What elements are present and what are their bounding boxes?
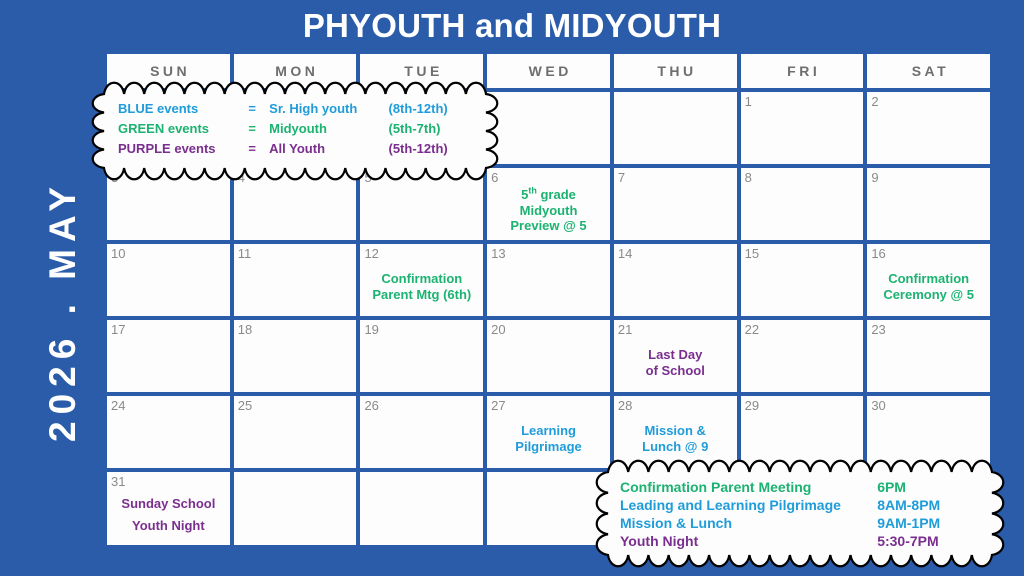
weekday-header-sat: SAT bbox=[865, 52, 992, 90]
legend-event-row: Confirmation Parent Meeting6PM bbox=[620, 479, 986, 497]
calendar-day-cell-24[interactable]: 24 bbox=[105, 394, 232, 470]
day-number: 24 bbox=[111, 399, 226, 413]
page-title: PHYOUTH and MIDYOUTH bbox=[0, 4, 1024, 48]
day-number: 10 bbox=[111, 247, 226, 261]
legend-event-time: 6PM bbox=[877, 479, 986, 495]
event-text[interactable]: LearningPilgrimage bbox=[491, 413, 606, 466]
event-line: Youth Night bbox=[132, 515, 205, 537]
calendar-day-cell-20[interactable]: 20 bbox=[485, 318, 612, 394]
calendar-day-cell-30[interactable]: 30 bbox=[865, 394, 992, 470]
legend-event-name: Confirmation Parent Meeting bbox=[620, 479, 877, 495]
calendar-day-cell-empty[interactable] bbox=[232, 470, 359, 547]
day-number: 15 bbox=[745, 247, 860, 261]
day-number: 17 bbox=[111, 323, 226, 337]
calendar-day-cell-15[interactable]: 15 bbox=[739, 242, 866, 318]
calendar-day-cell-empty[interactable] bbox=[485, 470, 612, 547]
legend-label: PURPLE events bbox=[118, 141, 243, 156]
legend-event-row: Leading and Learning Pilgrimage8AM-8PM bbox=[620, 497, 986, 515]
legend-grades: (5th-7th) bbox=[389, 121, 478, 136]
legend-key-row: BLUE events=Sr. High youth(8th-12th) bbox=[118, 101, 478, 121]
day-number bbox=[491, 475, 606, 489]
day-number: 12 bbox=[364, 247, 479, 261]
day-number: 18 bbox=[238, 323, 353, 337]
legend-event-times: Confirmation Parent Meeting6PMLeading an… bbox=[608, 472, 992, 555]
legend-key-row: GREEN events=Midyouth(5th-7th) bbox=[118, 121, 478, 141]
weekday-label: FRI bbox=[784, 63, 821, 79]
legend-grades: (5th-12th) bbox=[389, 141, 478, 156]
day-number: 21 bbox=[618, 323, 733, 337]
legend-group: Midyouth bbox=[261, 121, 388, 136]
weekday-header-mon: MON bbox=[232, 52, 359, 90]
weekday-header-sun: SUN bbox=[105, 52, 232, 90]
event-line: Pilgrimage bbox=[515, 439, 581, 455]
legend-event-name: Leading and Learning Pilgrimage bbox=[620, 497, 877, 513]
day-number: 25 bbox=[238, 399, 353, 413]
calendar-day-cell-18[interactable]: 18 bbox=[232, 318, 359, 394]
day-number: 8 bbox=[745, 171, 860, 185]
event-text[interactable]: ConfirmationCeremony @ 5 bbox=[871, 261, 986, 314]
event-line: Parent Mtg (6th) bbox=[372, 287, 471, 303]
calendar-day-cell-empty[interactable] bbox=[612, 90, 739, 166]
event-line: Learning bbox=[521, 423, 576, 439]
calendar-day-cell-31[interactable]: 31Sunday SchoolYouth Night bbox=[105, 470, 232, 547]
legend-event-time: 9AM-1PM bbox=[877, 515, 986, 531]
calendar-day-cell-empty[interactable] bbox=[358, 470, 485, 547]
event-text[interactable]: Sunday SchoolYouth Night bbox=[111, 489, 226, 543]
day-number: 23 bbox=[871, 323, 986, 337]
legend-event-name: Youth Night bbox=[620, 533, 877, 549]
day-number bbox=[491, 95, 606, 109]
day-number: 7 bbox=[618, 171, 733, 185]
day-number: 16 bbox=[871, 247, 986, 261]
day-number: 28 bbox=[618, 399, 733, 413]
day-number: 9 bbox=[871, 171, 986, 185]
calendar-day-cell-14[interactable]: 14 bbox=[612, 242, 739, 318]
event-text[interactable]: 5th gradeMidyouthPreview @ 5 bbox=[491, 185, 606, 238]
calendar-day-cell-19[interactable]: 19 bbox=[358, 318, 485, 394]
weekday-header-fri: FRI bbox=[739, 52, 866, 90]
event-line: Lunch @ 9 bbox=[642, 439, 708, 455]
day-number: 22 bbox=[745, 323, 860, 337]
calendar-day-cell-13[interactable]: 13 bbox=[485, 242, 612, 318]
legend-event-name: Mission & Lunch bbox=[620, 515, 877, 531]
legend-event-row: Mission & Lunch9AM-1PM bbox=[620, 515, 986, 533]
day-number: 19 bbox=[364, 323, 479, 337]
calendar-day-cell-17[interactable]: 17 bbox=[105, 318, 232, 394]
weekday-header-thu: THU bbox=[612, 52, 739, 90]
legend-event-row: Youth Night5:30-7PM bbox=[620, 533, 986, 551]
day-number: 31 bbox=[111, 475, 226, 489]
calendar-day-cell-4[interactable]: 4 bbox=[232, 166, 359, 242]
calendar-day-cell-28[interactable]: 28Mission &Lunch @ 9 bbox=[612, 394, 739, 470]
legend-group: All Youth bbox=[261, 141, 388, 156]
calendar-day-cell-25[interactable]: 25 bbox=[232, 394, 359, 470]
calendar-day-cell-16[interactable]: 16ConfirmationCeremony @ 5 bbox=[865, 242, 992, 318]
calendar-day-cell-12[interactable]: 12ConfirmationParent Mtg (6th) bbox=[358, 242, 485, 318]
legend-grades: (8th-12th) bbox=[389, 101, 478, 116]
calendar-day-cell-27[interactable]: 27LearningPilgrimage bbox=[485, 394, 612, 470]
event-line: Ceremony @ 5 bbox=[883, 287, 974, 303]
legend-eq: = bbox=[243, 121, 261, 136]
day-number: 2 bbox=[871, 95, 986, 109]
day-number: 11 bbox=[238, 247, 353, 261]
day-number bbox=[238, 475, 353, 489]
calendar-day-cell-11[interactable]: 11 bbox=[232, 242, 359, 318]
weekday-label: THU bbox=[654, 63, 697, 79]
legend-group: Sr. High youth bbox=[261, 101, 388, 116]
day-number: 30 bbox=[871, 399, 986, 413]
legend-label: GREEN events bbox=[118, 121, 243, 136]
calendar-day-cell-6[interactable]: 65th gradeMidyouthPreview @ 5 bbox=[485, 166, 612, 242]
calendar-day-cell-9[interactable]: 9 bbox=[865, 166, 992, 242]
calendar-day-cell-10[interactable]: 10 bbox=[105, 242, 232, 318]
weekday-label: MON bbox=[272, 63, 319, 79]
weekday-label: TUE bbox=[401, 63, 443, 79]
day-number bbox=[618, 95, 733, 109]
day-number: 20 bbox=[491, 323, 606, 337]
calendar-day-cell-22[interactable]: 22 bbox=[739, 318, 866, 394]
legend-event-time: 8AM-8PM bbox=[877, 497, 986, 513]
calendar-week-row: 34565th gradeMidyouthPreview @ 5789 bbox=[105, 166, 992, 242]
weekday-label: SUN bbox=[147, 63, 191, 79]
calendar-week-row: 101112ConfirmationParent Mtg (6th)131415… bbox=[105, 242, 992, 318]
day-number: 1 bbox=[745, 95, 860, 109]
day-number: 14 bbox=[618, 247, 733, 261]
calendar-week-row: 24252627LearningPilgrimage28Mission &Lun… bbox=[105, 394, 992, 470]
day-number: 27 bbox=[491, 399, 606, 413]
event-line: Midyouth bbox=[520, 203, 578, 219]
event-line: Mission & bbox=[645, 423, 706, 439]
event-line: Preview @ 5 bbox=[510, 218, 586, 234]
day-number: 13 bbox=[491, 247, 606, 261]
day-number: 3 bbox=[111, 171, 226, 185]
weekday-header-wed: WED bbox=[485, 52, 612, 90]
event-line: Last Day bbox=[648, 347, 702, 363]
legend-key-row: PURPLE events=All Youth(5th-12th) bbox=[118, 141, 478, 161]
weekday-label: SAT bbox=[908, 63, 949, 79]
weekday-label: WED bbox=[525, 63, 572, 79]
calendar-day-cell-3[interactable]: 3 bbox=[105, 166, 232, 242]
calendar-week-row: 1718192021Last Dayof School2223 bbox=[105, 318, 992, 394]
weekday-header-tue: TUE bbox=[358, 52, 485, 90]
event-text[interactable]: Mission &Lunch @ 9 bbox=[618, 413, 733, 466]
calendar-day-cell-26[interactable]: 26 bbox=[358, 394, 485, 470]
event-line: Confirmation bbox=[381, 271, 462, 287]
calendar-day-cell-2[interactable]: 2 bbox=[865, 90, 992, 166]
calendar-day-cell-empty[interactable] bbox=[485, 90, 612, 166]
calendar-day-cell-29[interactable]: 29 bbox=[739, 394, 866, 470]
day-number: 5 bbox=[364, 171, 479, 185]
event-line: Confirmation bbox=[888, 271, 969, 287]
event-line: 5th grade bbox=[521, 187, 576, 203]
day-number bbox=[364, 475, 479, 489]
calendar-day-cell-21[interactable]: 21Last Dayof School bbox=[612, 318, 739, 394]
event-text[interactable]: Last Dayof School bbox=[618, 337, 733, 390]
event-line: Sunday School bbox=[121, 493, 215, 515]
legend-event-time: 5:30-7PM bbox=[877, 533, 986, 549]
legend-eq: = bbox=[243, 101, 261, 116]
legend-label: BLUE events bbox=[118, 101, 243, 116]
calendar-day-cell-1[interactable]: 1 bbox=[739, 90, 866, 166]
month-year-label: 2026 . MAY bbox=[33, 101, 93, 521]
calendar-day-cell-7[interactable]: 7 bbox=[612, 166, 739, 242]
calendar-day-cell-23[interactable]: 23 bbox=[865, 318, 992, 394]
calendar-day-cell-5[interactable]: 5 bbox=[358, 166, 485, 242]
event-line: of School bbox=[646, 363, 705, 379]
legend-eq: = bbox=[243, 141, 261, 156]
day-number: 6 bbox=[491, 171, 606, 185]
weekday-header-row: SUNMONTUEWEDTHUFRISAT bbox=[105, 52, 992, 90]
day-number: 29 bbox=[745, 399, 860, 413]
calendar-day-cell-8[interactable]: 8 bbox=[739, 166, 866, 242]
day-number: 4 bbox=[238, 171, 353, 185]
day-number: 26 bbox=[364, 399, 479, 413]
legend-color-key: BLUE events=Sr. High youth(8th-12th)GREE… bbox=[104, 94, 486, 168]
event-text[interactable]: ConfirmationParent Mtg (6th) bbox=[364, 261, 479, 314]
